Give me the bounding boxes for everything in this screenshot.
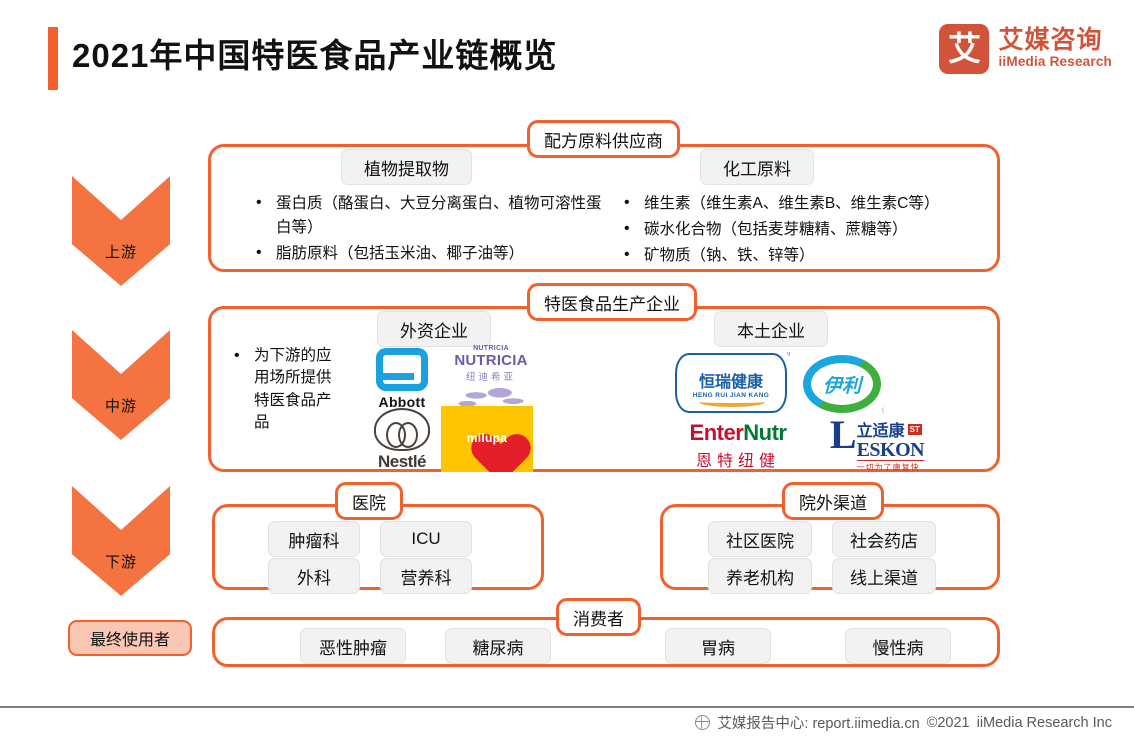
consumer-item-stomach[interactable]: 胃病 (665, 628, 771, 664)
upstream-left-title: 植物提取物 (341, 149, 472, 185)
stage-chevron-upstream: 上游 (72, 176, 170, 286)
brand-logo: 艾 艾媒咨询 iiMedia Research (939, 24, 1112, 74)
outside-channel-chip: 院外渠道 (782, 482, 884, 520)
enternutr-label-part1: Enter (690, 420, 744, 445)
hospital-chip: 医院 (335, 482, 403, 520)
hospital-item-oncology[interactable]: 肿瘤科 (268, 521, 360, 557)
upstream-chip: 配方原料供应商 (527, 120, 680, 158)
leskon-label-cn: 立适康 (857, 418, 905, 441)
midstream-chip: 特医食品生产企业 (527, 283, 697, 321)
swoosh-icon (699, 397, 765, 407)
consumer-item-cancer[interactable]: 恶性肿瘤 (300, 628, 406, 664)
leskon-wrap: L 立适康 ST ESKON 一切为了康复快 (830, 418, 924, 472)
footer-copyright: ©2021 (927, 715, 970, 731)
logo-abbott: Abbott (365, 348, 439, 410)
logo-milupa: milupa (441, 406, 533, 472)
nestle-label: Nestlé (378, 452, 426, 472)
list-item: 维生素（维生素A、维生素B、维生素C等） (618, 192, 998, 216)
enternutr-label-part2: Nutr (743, 420, 786, 445)
list-item: 脂肪原料（包括玉米油、椰子油等） (250, 242, 605, 266)
leskon-label-en: ESKON (857, 441, 925, 460)
upstream-right-title: 化工原料 (700, 149, 814, 185)
list-item: 为下游的应用场所提供特医食品产品 (228, 345, 338, 435)
enternutr-label-en: EnterNutr (690, 420, 787, 446)
hengrui-badge: 恒瑞健康 HENG RUI JIAN KANG ® (675, 353, 787, 413)
yili-badge: 伊利 ® (803, 355, 881, 413)
leskon-tag: ST (908, 424, 922, 435)
milupa-box: milupa (441, 406, 533, 472)
logo-enternutr: EnterNutr 恩特纽健 (668, 420, 808, 470)
registered-icon: ® (787, 352, 790, 358)
milupa-label: milupa (460, 431, 514, 445)
abbott-mark-icon (376, 348, 428, 391)
footer-company: iiMedia Research Inc (977, 715, 1112, 731)
logo-name-cn: 艾媒咨询 (998, 27, 1112, 53)
title-accent-bar (48, 27, 58, 90)
consumer-item-chronic[interactable]: 慢性病 (845, 628, 951, 664)
hengrui-label-cn: 恒瑞健康 (699, 368, 763, 392)
list-item: 矿物质（钠、铁、锌等） (618, 244, 998, 268)
final-user-badge: 最终使用者 (68, 620, 192, 656)
globe-icon (695, 715, 710, 730)
logo-mark-icon: 艾 (939, 24, 989, 74)
outside-item-pharmacy[interactable]: 社会药店 (832, 521, 936, 557)
midstream-note: 为下游的应用场所提供特医食品产品 (228, 345, 338, 437)
leskon-slogan: 一切为了康复快 (857, 460, 925, 472)
stage-label-midstream: 中游 (105, 395, 137, 416)
registered-icon: ® (882, 406, 884, 414)
outside-item-elderly-care[interactable]: 养老机构 (708, 558, 812, 594)
midstream-foreign-title: 外资企业 (377, 311, 491, 347)
stage-chevron-downstream: 下游 (72, 486, 170, 596)
footer: 艾媒报告中心: report.iimedia.cn ©2021 iiMedia … (695, 712, 1112, 733)
outside-item-online-channel[interactable]: 线上渠道 (832, 558, 936, 594)
consumer-item-diabetes[interactable]: 糖尿病 (445, 628, 551, 664)
nutricia-label: NUTRICIA (454, 352, 527, 369)
leskon-initial: L (830, 418, 857, 452)
logo-leskon: L 立适康 ST ESKON 一切为了康复快 (812, 418, 942, 472)
hospital-item-nutrition[interactable]: 营养科 (380, 558, 472, 594)
stage-chevron-midstream: 中游 (72, 330, 170, 440)
consumer-chip: 消费者 (556, 598, 641, 636)
midstream-local-title: 本土企业 (714, 311, 828, 347)
nest-bird-icon (374, 408, 430, 451)
list-item: 蛋白质（酪蛋白、大豆分离蛋白、植物可溶性蛋白等） (250, 192, 605, 240)
logo-nutricia: NUTRICIA NUTRICIA 纽迪希亚 (443, 344, 539, 412)
page-header: 2021年中国特医食品产业链概览 艾 艾媒咨询 iiMedia Research (0, 0, 1134, 110)
hospital-item-surgery[interactable]: 外科 (268, 558, 360, 594)
upstream-right-bullets: 维生素（维生素A、维生素B、维生素C等） 碳水化合物（包括麦芽糖精、蔗糖等） 矿… (618, 192, 998, 270)
logo-name-en: iiMedia Research (998, 53, 1112, 71)
footer-divider (0, 706, 1134, 708)
stage-label-downstream: 下游 (105, 551, 137, 572)
hospital-item-icu[interactable]: ICU (380, 521, 472, 557)
nutricia-label-cn: 纽迪希亚 (466, 369, 516, 383)
outside-item-community-hospital[interactable]: 社区医院 (708, 521, 812, 557)
stage-label-upstream: 上游 (105, 241, 137, 262)
upstream-left-bullets: 蛋白质（酪蛋白、大豆分离蛋白、植物可溶性蛋白等） 脂肪原料（包括玉米油、椰子油等… (250, 192, 605, 268)
leskon-top: 立适康 ST (857, 418, 925, 441)
yili-label: 伊利 (811, 363, 873, 405)
nutricia-top-label: NUTRICIA (473, 345, 509, 352)
enternutr-label-cn: 恩特纽健 (696, 447, 780, 471)
logo-nestle: Nestlé (364, 408, 440, 472)
page-title: 2021年中国特医食品产业链概览 (72, 29, 557, 77)
logo-yili: 伊利 ® (800, 354, 884, 414)
footer-site: 艾媒报告中心: report.iimedia.cn (717, 712, 919, 733)
logo-text: 艾媒咨询 iiMedia Research (998, 27, 1112, 71)
heart-icon: milupa (460, 414, 514, 464)
leskon-right: 立适康 ST ESKON 一切为了康复快 (857, 418, 925, 472)
logo-hengrui: 恒瑞健康 HENG RUI JIAN KANG ® (672, 352, 790, 414)
list-item: 碳水化合物（包括麦芽糖精、蔗糖等） (618, 218, 998, 242)
